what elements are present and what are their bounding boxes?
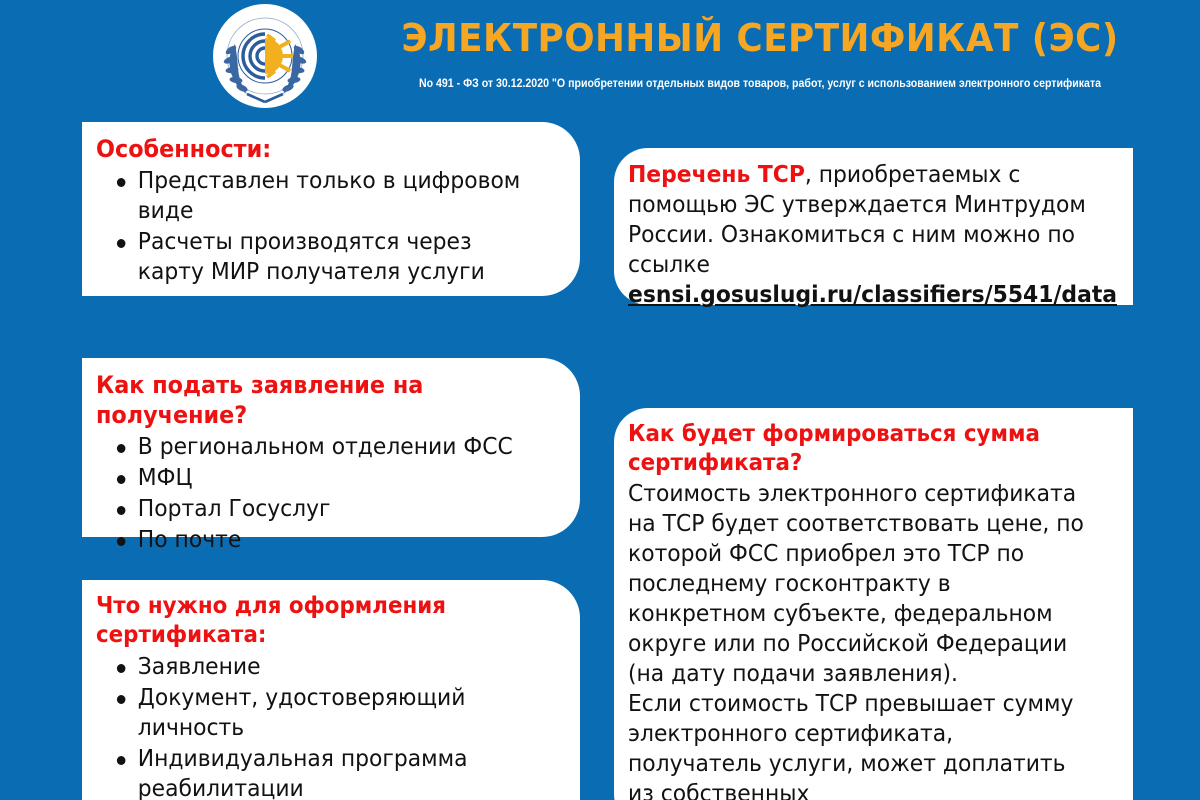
esnsi-classifier-link[interactable]: esnsi.gosuslugi.ru/classifiers/5541/data (628, 280, 1117, 311)
list-item: Заявление (96, 652, 539, 682)
card-sum-formation-heading-line1: Как будет формироваться сумма (628, 420, 1081, 449)
card-sum-formation-paragraph-2: Если стоимость ТСР превышает сумму элект… (628, 689, 1091, 800)
card-how-to-apply-list: В региональном отделении ФСС МФЦ Портал … (96, 432, 562, 555)
list-item: В региональном отделении ФСС (96, 432, 539, 462)
card-tsr-list: Перечень ТСР, приобретаемых с помощью ЭС… (614, 148, 1133, 305)
list-item: МФЦ (96, 463, 539, 493)
page-title: ЭЛЕКТРОННЫЙ СЕРТИФИКАТ (ЭС) (356, 0, 1164, 60)
list-item: Индивидуальная программа реабилитации (96, 744, 539, 800)
card-sum-formation-paragraph-1: Стоимость электронного сертификата на ТС… (628, 479, 1091, 689)
list-item: Представлен только в цифровом виде (96, 166, 539, 226)
card-what-is-needed-heading-line1: Что нужно для оформления (96, 592, 529, 621)
card-how-to-apply: Как подать заявление на получение? В рег… (82, 358, 580, 537)
card-sum-formation: Как будет формироваться сумма сертификат… (614, 408, 1133, 800)
list-item: По почте (96, 525, 539, 555)
card-sum-formation-heading-line2: сертификата? (628, 449, 1081, 478)
list-item: Портал Госуслуг (96, 494, 539, 524)
card-features-heading: Особенности: (96, 134, 529, 164)
card-how-to-apply-heading: Как подать заявление на получение? (96, 370, 529, 430)
list-item: Документ, удостоверяющий личность (96, 683, 539, 743)
card-features: Особенности: Представлен только в цифров… (82, 122, 580, 296)
card-what-is-needed-heading-line2: сертификата: (96, 621, 529, 650)
card-what-is-needed: Что нужно для оформления сертификата: За… (82, 580, 580, 800)
card-tsr-list-accent: Перечень ТСР (628, 162, 805, 188)
card-sum-formation-body: Стоимость электронного сертификата на ТС… (628, 479, 1115, 800)
page-header: ЭЛЕКТРОННЫЙ СЕРТИФИКАТ (ЭС) No 491 - ФЗ … (0, 0, 1200, 112)
fss-emblem-svg (213, 4, 317, 108)
page-subtitle-law-reference: No 491 - ФЗ от 30.12.2020 "О приобретени… (364, 60, 1155, 92)
card-what-is-needed-list: Заявление Документ, удостоверяющий лично… (96, 652, 562, 800)
card-features-list: Представлен только в цифровом виде Расче… (96, 166, 562, 287)
header-title-block: ЭЛЕКТРОННЫЙ СЕРТИФИКАТ (ЭС) No 491 - ФЗ … (330, 0, 1190, 92)
list-item: Расчеты производятся через карту МИР пол… (96, 227, 539, 287)
fss-emblem-logo (213, 4, 317, 108)
card-tsr-list-text: Перечень ТСР, приобретаемых с помощью ЭС… (628, 160, 1091, 280)
